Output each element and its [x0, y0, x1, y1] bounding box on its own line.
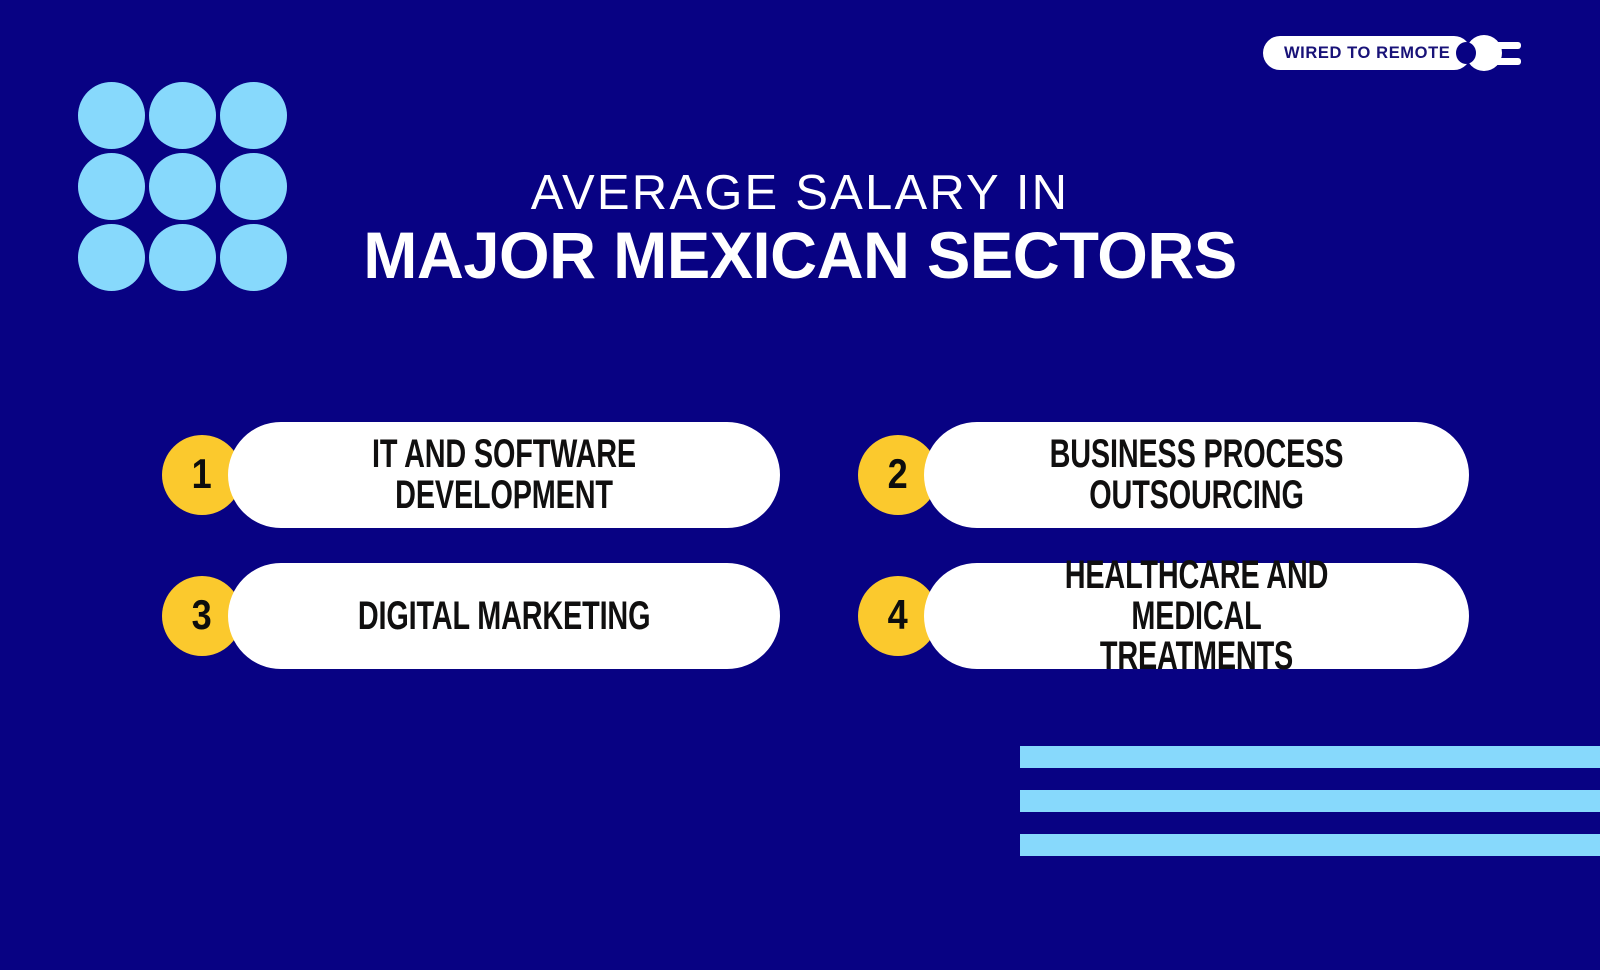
sector-item-4[interactable]: 4 HEALTHCARE AND MEDICAL TREATMENTS	[858, 563, 1472, 669]
page-title-line-2: MAJOR MEXICAN SECTORS	[12, 219, 1588, 293]
sector-item-2[interactable]: 2 BUSINESS PROCESS OUTSOURCING	[858, 422, 1472, 528]
page-title-line-1: AVERAGE SALARY IN	[0, 168, 1600, 219]
sector-label: BUSINESS PROCESS OUTSOURCING	[1025, 434, 1368, 516]
sector-label: IT AND SOFTWARE DEVELOPMENT	[330, 434, 678, 516]
sector-number: 1	[192, 453, 212, 495]
brand-logo[interactable]: WIRED TO REMOTE	[1263, 36, 1524, 70]
stripe-decoration-bar	[1020, 834, 1600, 856]
sector-label: DIGITAL MARKETING	[358, 596, 650, 637]
plug-icon-prong-top	[1493, 42, 1521, 49]
stripe-decoration	[1020, 746, 1600, 856]
sector-pill[interactable]: BUSINESS PROCESS OUTSOURCING	[924, 422, 1469, 528]
sector-number: 2	[888, 453, 908, 495]
sector-item-1[interactable]: 1 IT AND SOFTWARE DEVELOPMENT	[162, 422, 858, 528]
dot-decoration	[220, 82, 287, 149]
dot-decoration	[149, 82, 216, 149]
sector-number: 3	[192, 594, 212, 636]
sector-number: 4	[888, 594, 908, 636]
sector-list: 1 IT AND SOFTWARE DEVELOPMENT 2 BUSINESS…	[162, 422, 1472, 704]
logo-pill: WIRED TO REMOTE	[1263, 36, 1471, 70]
sector-label: HEALTHCARE AND MEDICAL TREATMENTS	[1025, 555, 1368, 677]
plug-icon	[1466, 34, 1524, 72]
stripe-decoration-bar	[1020, 790, 1600, 812]
logo-text: WIRED TO REMOTE	[1284, 45, 1450, 62]
page-title: AVERAGE SALARY IN MAJOR MEXICAN SECTORS	[0, 168, 1600, 293]
sector-pill[interactable]: DIGITAL MARKETING	[228, 563, 780, 669]
sector-pill[interactable]: IT AND SOFTWARE DEVELOPMENT	[228, 422, 780, 528]
plug-icon-prong-bottom	[1493, 58, 1521, 65]
sector-item-3[interactable]: 3 DIGITAL MARKETING	[162, 563, 858, 669]
stripe-decoration-bar	[1020, 746, 1600, 768]
dot-decoration	[78, 82, 145, 149]
sector-pill[interactable]: HEALTHCARE AND MEDICAL TREATMENTS	[924, 563, 1469, 669]
